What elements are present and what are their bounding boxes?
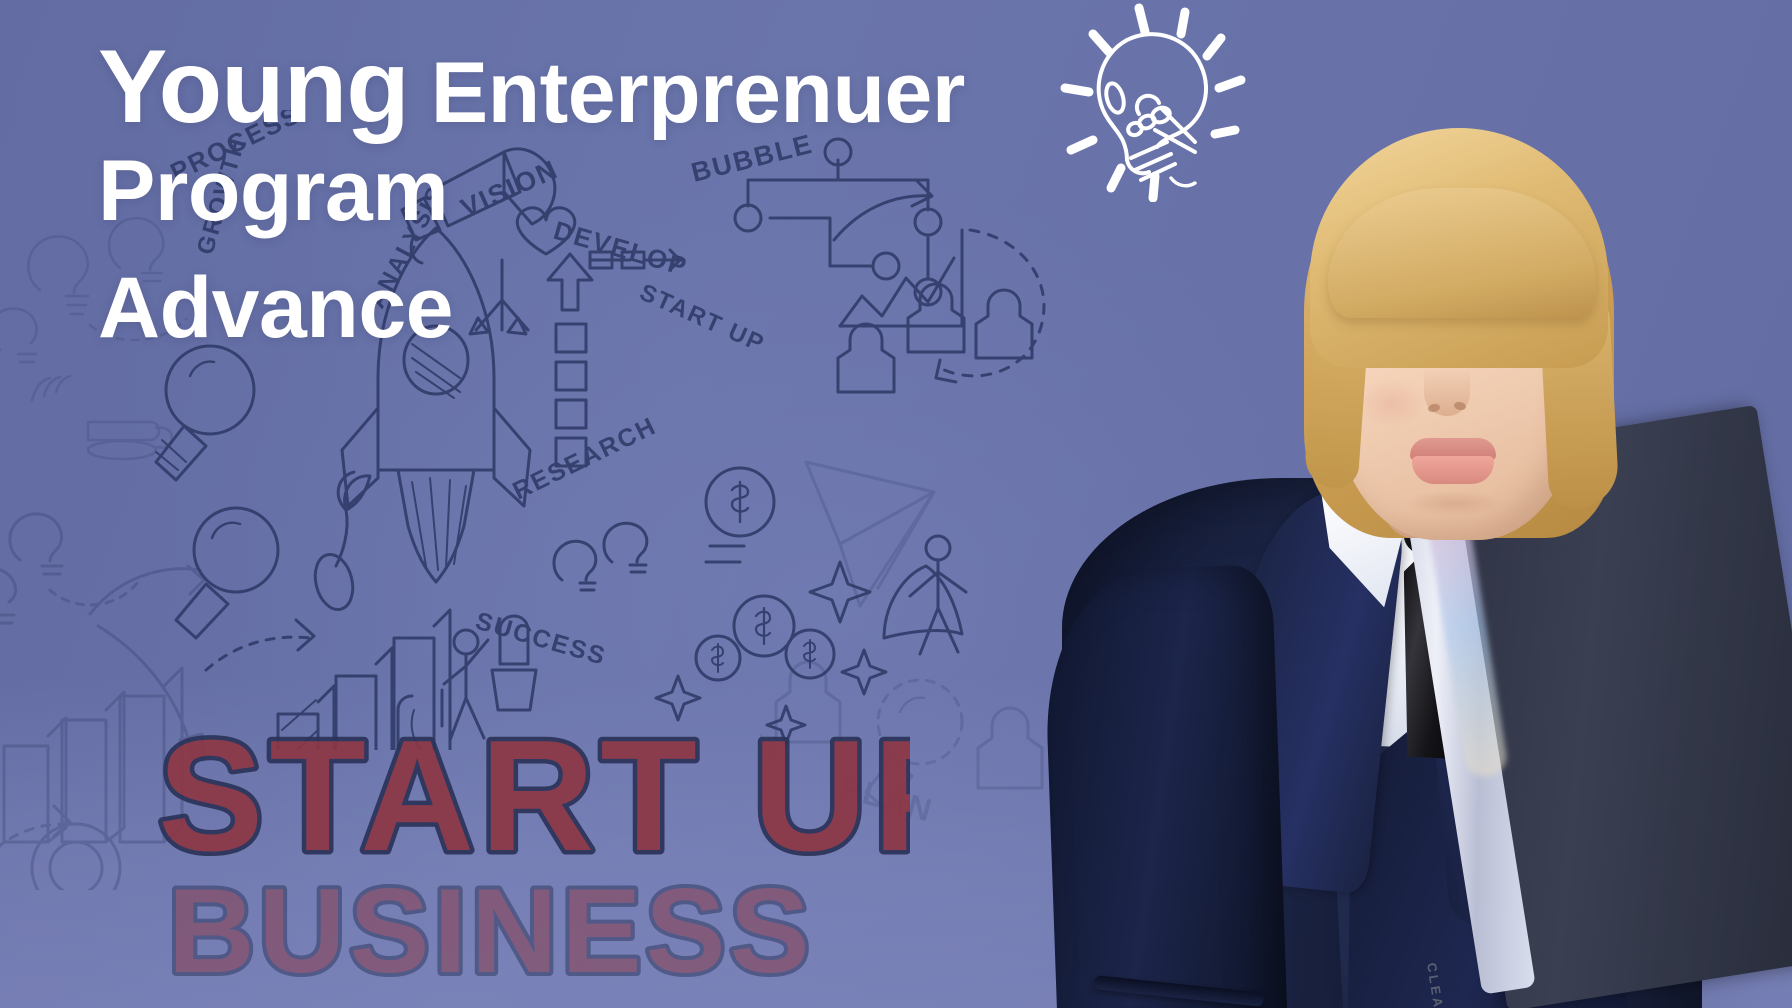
promo-banner: PROCESS GROWTH VISION ANALYSIS DEVELOP B…	[0, 0, 1792, 1008]
startup-graffiti-sub: BUSINESS	[168, 864, 813, 998]
startup-graffiti: START UP BUSINESS	[150, 700, 910, 1000]
headline-enterprenuer: Enterprenuer	[431, 54, 965, 133]
suit-arm-left	[1042, 564, 1289, 1008]
startup-graffiti-svg: START UP BUSINESS	[150, 700, 910, 1000]
startup-graffiti-main: START UP	[158, 708, 910, 884]
headline-young: Young	[98, 40, 409, 136]
doodle-word-success: SUCCESS	[472, 607, 609, 671]
lip-lower	[1412, 456, 1494, 484]
boy-photo: CLEAR BOOK	[1032, 0, 1792, 1008]
chin-shading	[1404, 490, 1504, 516]
headline-program: Program	[98, 152, 1098, 231]
headline-line-1: Young Enterprenuer	[98, 40, 1098, 136]
headline-advance: Advance	[98, 269, 1098, 348]
headline-block: Young Enterprenuer Program Advance	[98, 40, 1098, 348]
cheek-blush	[1358, 378, 1424, 428]
